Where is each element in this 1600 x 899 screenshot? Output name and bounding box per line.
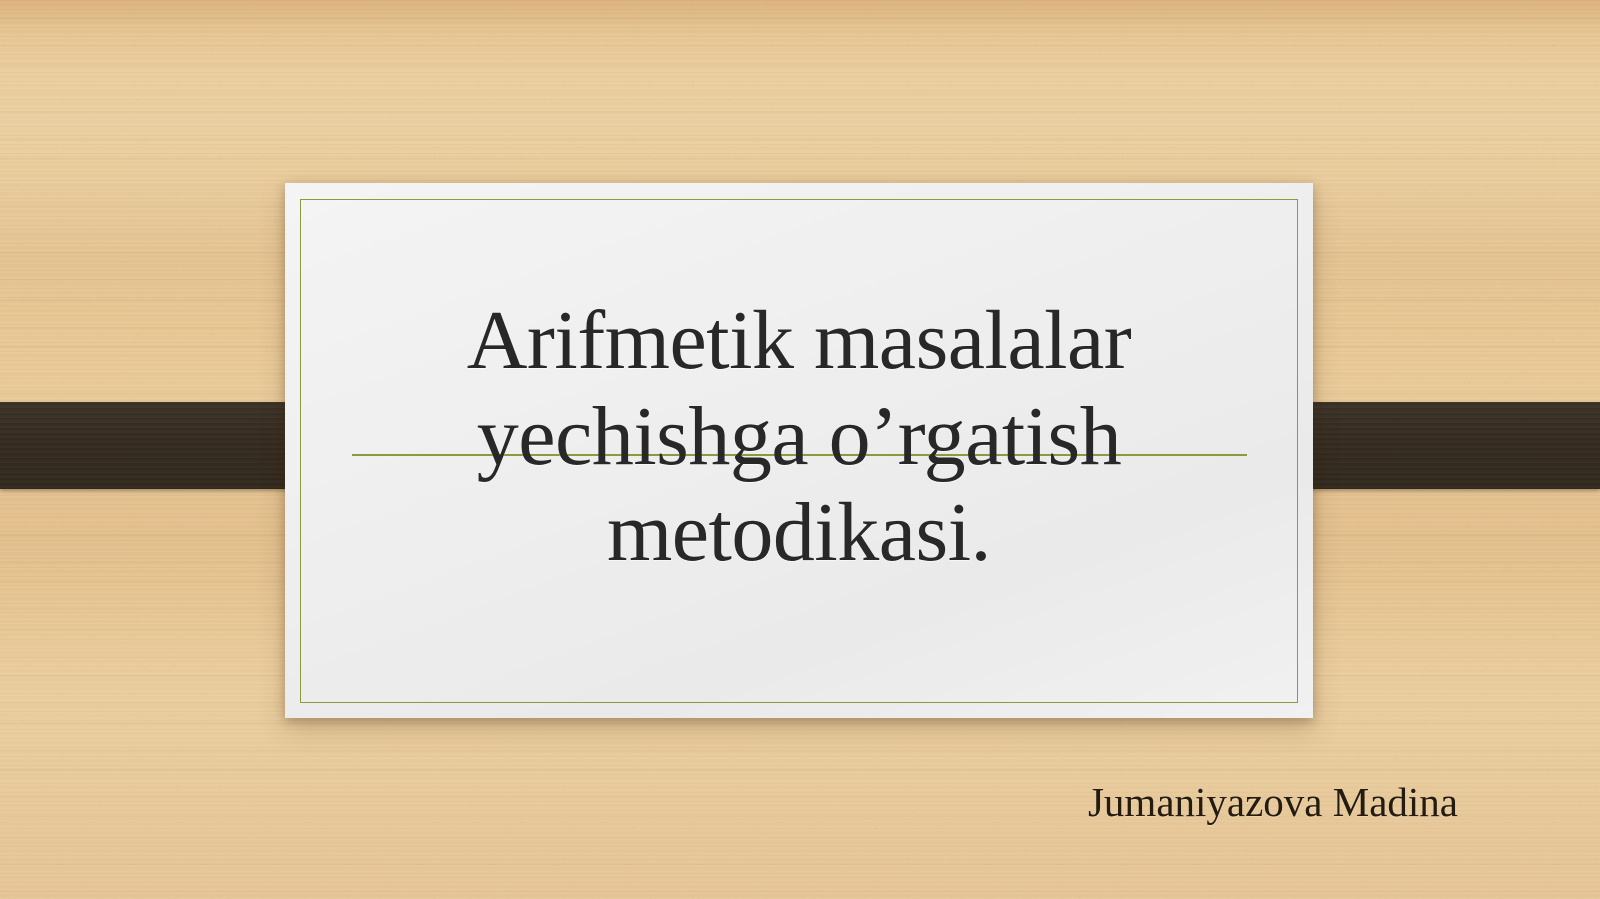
presentation-slide: Arifmetik masalalar yechishga o’rgatish …	[0, 0, 1600, 899]
title-card: Arifmetik masalalar yechishga o’rgatish …	[285, 183, 1313, 718]
slide-title-line-1: Arifmetik masalalar	[325, 293, 1273, 389]
slide-subtitle-author: Jumaniyazova Madina	[0, 778, 1458, 826]
slide-title: Arifmetik masalalar yechishga o’rgatish …	[325, 293, 1273, 581]
decorative-band-right	[1278, 402, 1600, 489]
slide-title-line-3: metodikasi.	[325, 485, 1273, 581]
slide-title-line-2: yechishga o’rgatish	[325, 389, 1273, 485]
decorative-band-left	[0, 402, 320, 489]
